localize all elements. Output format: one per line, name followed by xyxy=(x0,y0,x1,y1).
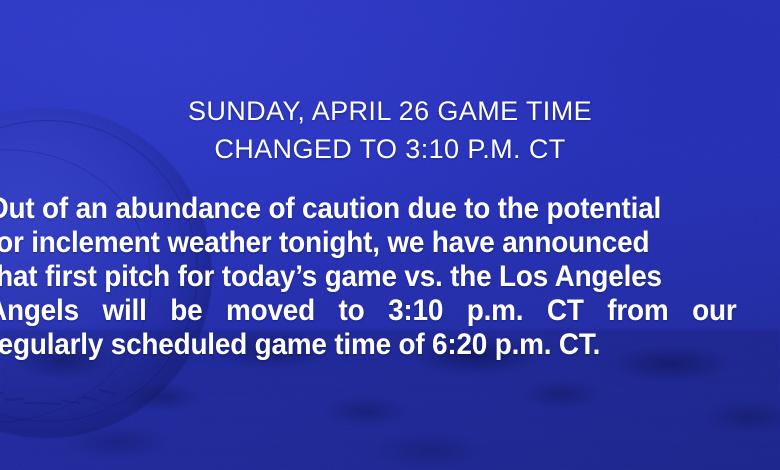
body-line-4-word: p.m. xyxy=(467,294,524,328)
body-line-4-word: from xyxy=(607,294,668,328)
body-line-4-word: our xyxy=(692,294,736,328)
body-line-4-word: CT xyxy=(547,294,584,328)
headline-line-1: SUNDAY, APRIL 26 GAME TIME xyxy=(0,92,780,130)
headline-line-2: CHANGED TO 3:10 P.M. CT xyxy=(0,130,780,168)
body-line-4-word: be xyxy=(170,294,202,328)
body-line-3-text: that first pitch for today’s game vs. th… xyxy=(0,260,662,294)
game-time-change-graphic: SUNDAY, APRIL 26 GAME TIME CHANGED TO 3:… xyxy=(0,0,780,470)
body-line-4-word: Angels xyxy=(0,294,79,328)
body-line-4-word: moved xyxy=(226,294,315,328)
body-line-5: regularly scheduled game time of 6:20 p.… xyxy=(0,328,737,362)
body-line-4-word: 3:10 xyxy=(388,294,443,328)
body-line-5-text: regularly scheduled game time of 6:20 p.… xyxy=(0,328,600,362)
announcement-content: SUNDAY, APRIL 26 GAME TIME CHANGED TO 3:… xyxy=(0,0,780,470)
headline: SUNDAY, APRIL 26 GAME TIME CHANGED TO 3:… xyxy=(0,92,780,168)
body-line-4-word: will xyxy=(102,294,146,328)
body-copy: Out of an abundance of caution due to th… xyxy=(0,192,737,362)
body-line-1: Out of an abundance of caution due to th… xyxy=(0,192,737,226)
body-line-1-text: Out of an abundance of caution due to th… xyxy=(0,192,661,226)
body-line-4: Angels will be moved to 3:10 p.m. CT fro… xyxy=(0,294,737,328)
body-line-2: for inclement weather tonight, we have a… xyxy=(0,226,737,260)
body-line-4-word: to xyxy=(339,294,365,328)
body-line-2-text: for inclement weather tonight, we have a… xyxy=(0,226,649,260)
body-line-3: that first pitch for today’s game vs. th… xyxy=(0,260,737,294)
